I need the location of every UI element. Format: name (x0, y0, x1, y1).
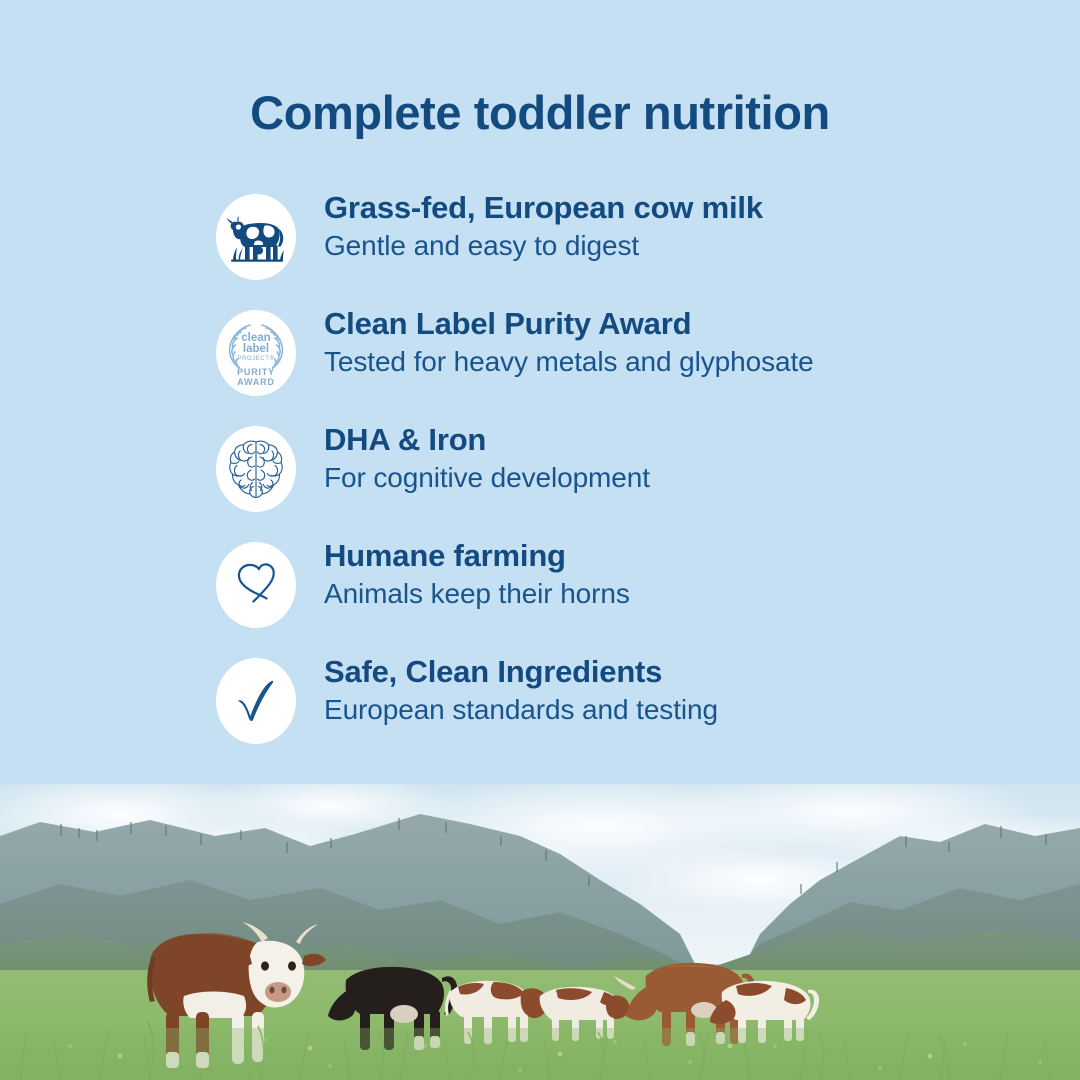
feature-row-safe-clean: Safe, Clean Ingredients European standar… (216, 658, 1016, 774)
promo-infographic: Complete toddler nutrition (0, 0, 1080, 1080)
feature-heading: Grass-fed, European cow milk (324, 190, 1014, 227)
feature-subtext: For cognitive development (324, 461, 1014, 495)
badge-line-5: AWARD (237, 377, 275, 387)
brain-icon (216, 426, 296, 512)
feature-subtext: European standards and testing (324, 693, 1014, 727)
feature-text: Humane farming Animals keep their horns (324, 538, 1014, 610)
feature-row-clean-label: clean label PROJECT® PURITY AWARD Clean … (216, 310, 1016, 426)
heart-icon (216, 542, 296, 628)
checkmark-icon (216, 658, 296, 744)
badge-line-3: PROJECT® (237, 355, 274, 362)
cow-icon (216, 194, 296, 280)
feature-subtext: Gentle and easy to digest (324, 229, 1014, 263)
feature-heading: Humane farming (324, 538, 1014, 575)
feature-subtext: Tested for heavy metals and glyphosate (324, 345, 1014, 379)
feature-text: Clean Label Purity Award Tested for heav… (324, 306, 1014, 378)
badge-line-4: PURITY (237, 367, 275, 377)
feature-heading: Safe, Clean Ingredients (324, 654, 1014, 691)
feature-row-dha-iron: DHA & Iron For cognitive development (216, 426, 1016, 542)
feature-row-grass-fed: Grass-fed, European cow milk Gentle and … (216, 194, 1016, 310)
feature-text: DHA & Iron For cognitive development (324, 422, 1014, 494)
feature-row-humane-farming: Humane farming Animals keep their horns (216, 542, 1016, 658)
badge-line-2: label (243, 343, 269, 355)
feature-text: Grass-fed, European cow milk Gentle and … (324, 190, 1014, 262)
feature-heading: Clean Label Purity Award (324, 306, 1014, 343)
feature-text: Safe, Clean Ingredients European standar… (324, 654, 1014, 726)
feature-subtext: Animals keep their horns (324, 577, 1014, 611)
page-title: Complete toddler nutrition (0, 88, 1080, 137)
feature-heading: DHA & Iron (324, 422, 1014, 459)
feature-list: Grass-fed, European cow milk Gentle and … (216, 194, 1016, 774)
clean-label-purity-award-badge-icon: clean label PROJECT® PURITY AWARD (216, 310, 296, 396)
cows-grazing-alpine-pasture-photo (0, 784, 1080, 1080)
